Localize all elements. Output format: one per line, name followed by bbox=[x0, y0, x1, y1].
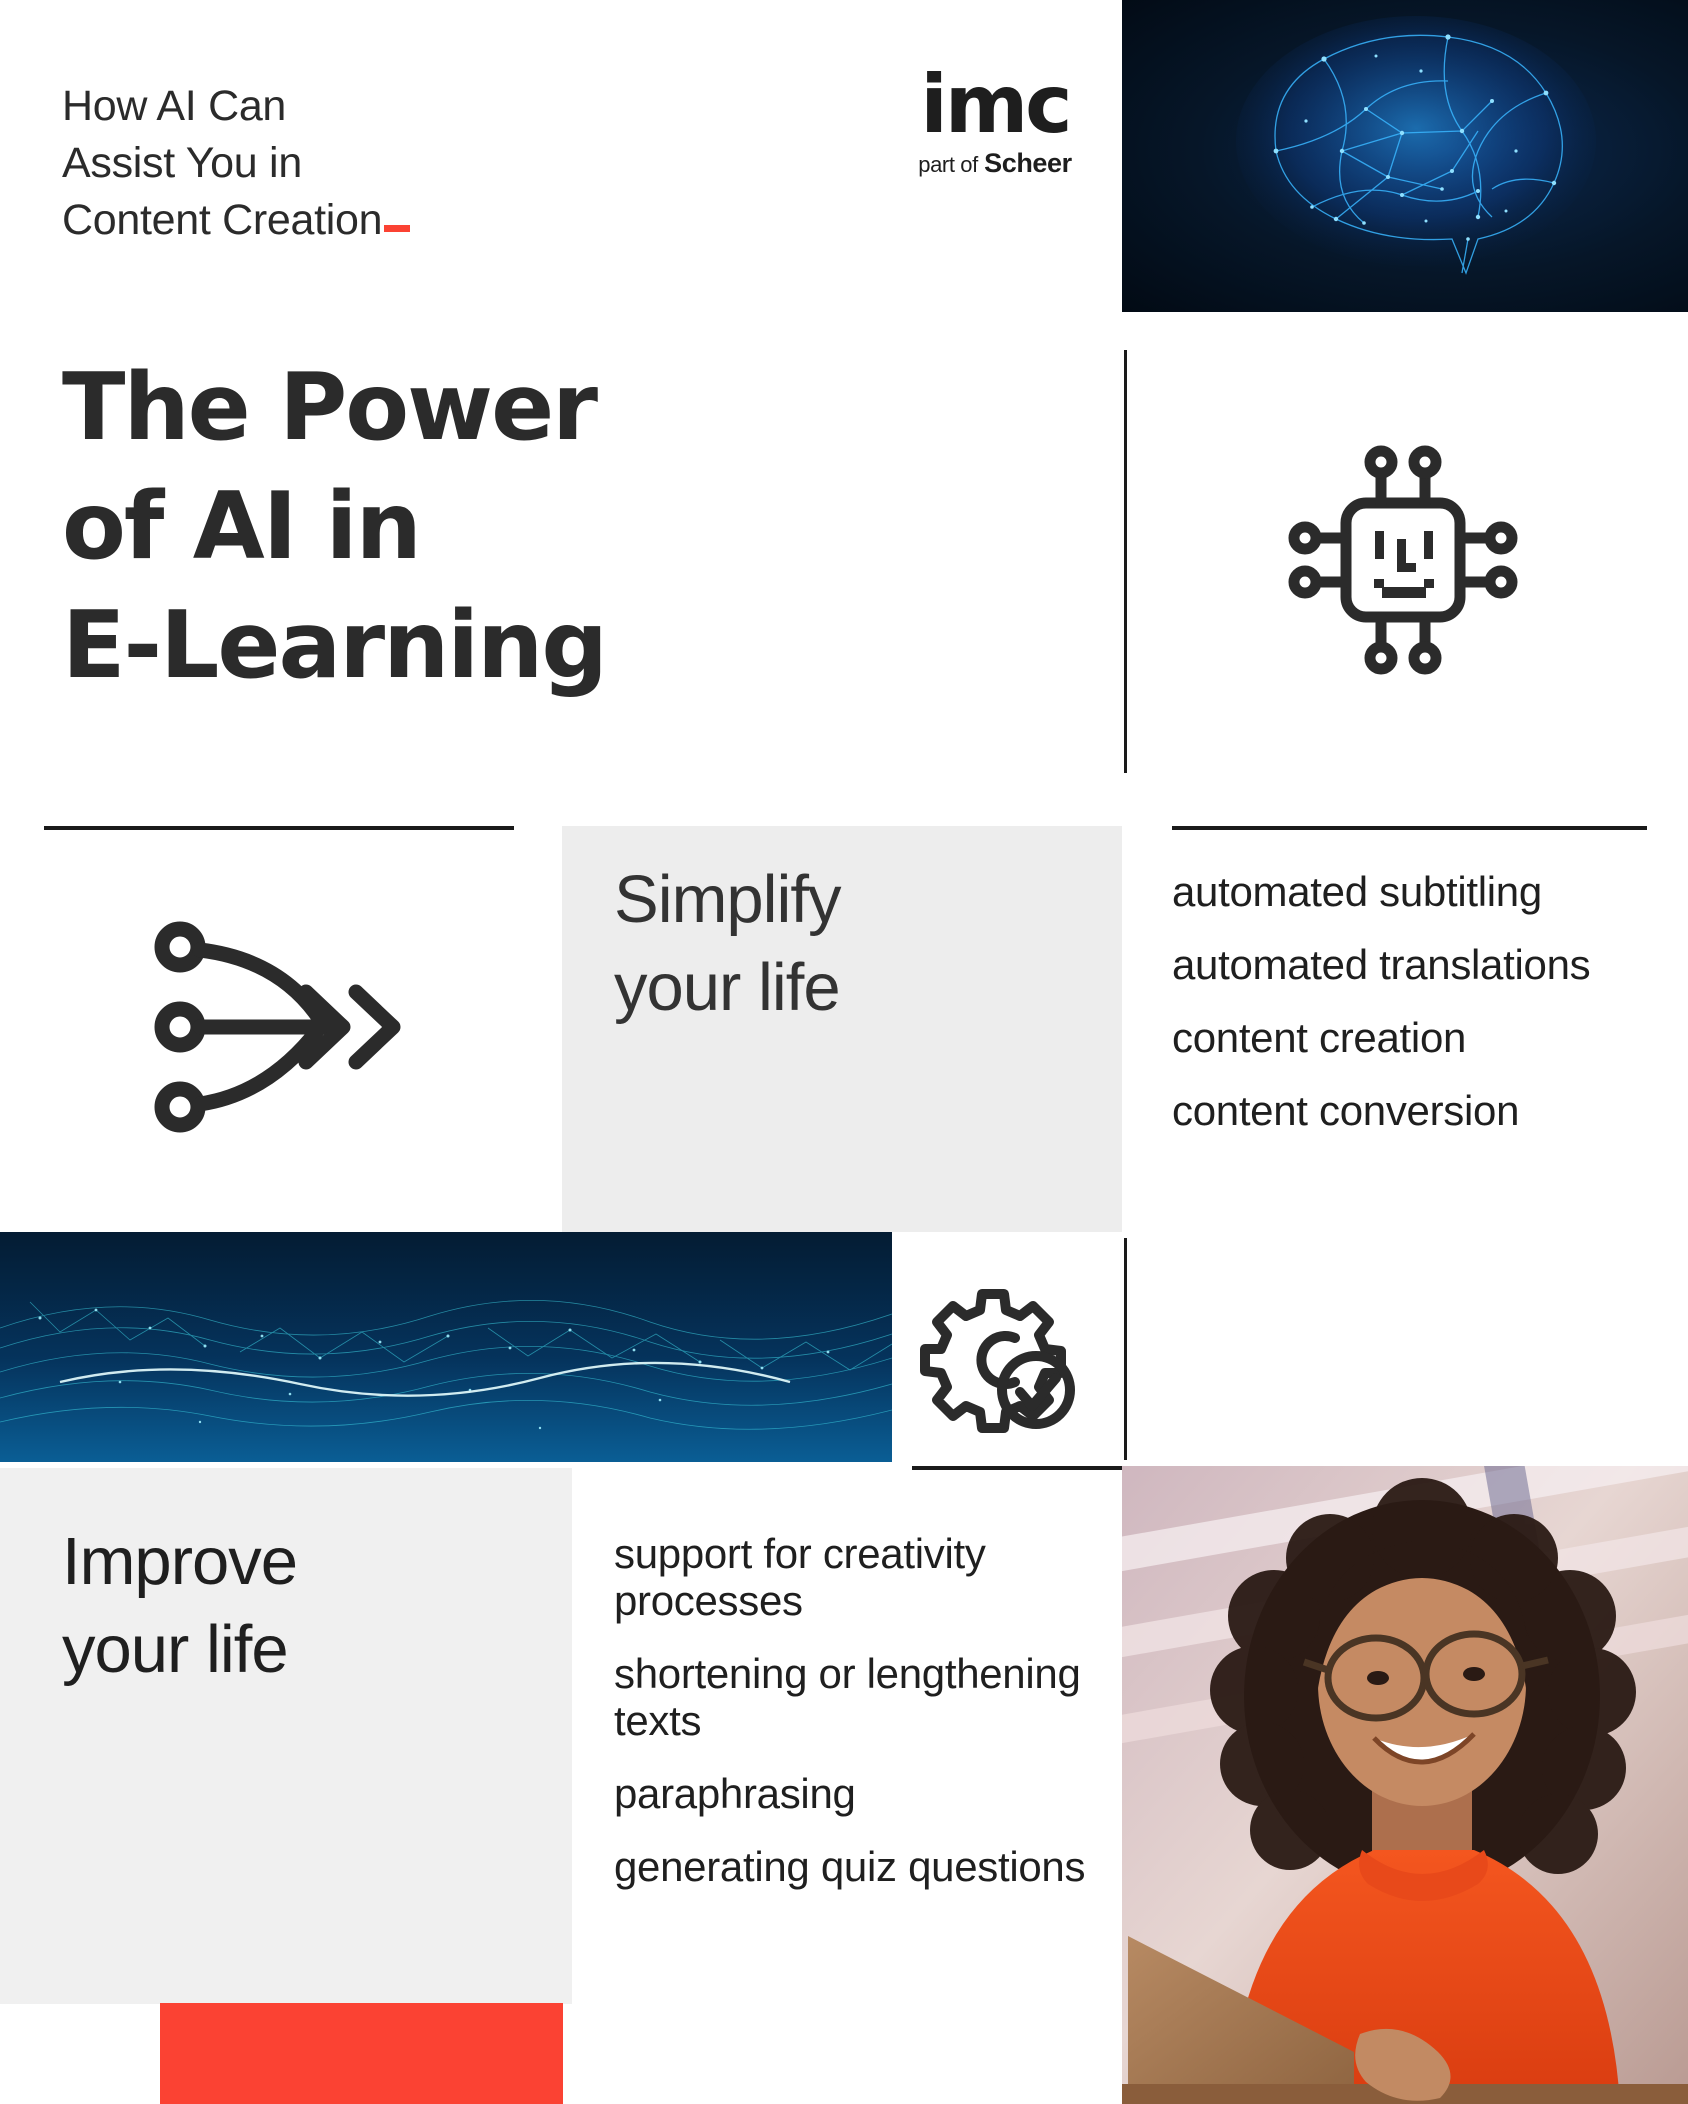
improve-heading-line-1: Improve bbox=[62, 1524, 297, 1599]
photo-illustration bbox=[1122, 1466, 1688, 2104]
simplify-heading-line-1: Simplify bbox=[614, 862, 841, 937]
gear-check-icon bbox=[918, 1282, 1098, 1442]
kicker-line-2: Assist You in bbox=[62, 139, 302, 187]
kicker-text: How AI Can Assist You in Content Creatio… bbox=[62, 78, 702, 250]
logo-tagline: part of Scheer bbox=[890, 148, 1100, 179]
wave-network-graphic bbox=[0, 1232, 892, 1462]
converge-arrow-graphic bbox=[148, 912, 428, 1142]
simplify-feature-list: automated subtitling automated translati… bbox=[1172, 868, 1672, 1160]
list-item: shortening or lengthening texts bbox=[614, 1650, 1114, 1744]
simplify-heading-line-2: your life bbox=[614, 950, 840, 1025]
list-item: automated subtitling bbox=[1172, 868, 1672, 915]
page-title: The Power of AI in E-Learning bbox=[62, 348, 752, 705]
title-line-1: The Power bbox=[62, 353, 596, 461]
brain-network-graphic bbox=[1216, 11, 1616, 301]
divider-rule-gear bbox=[912, 1466, 1124, 1470]
list-item: generating quiz questions bbox=[614, 1843, 1114, 1890]
divider-rule-left bbox=[44, 826, 514, 830]
list-item: support for creativity processes bbox=[614, 1530, 1114, 1624]
title-line-2: of AI in bbox=[62, 472, 420, 580]
ai-chip-icon bbox=[1278, 435, 1528, 685]
logo-tagline-prefix: part of bbox=[918, 152, 978, 177]
woman-with-laptop-photo bbox=[1122, 1466, 1688, 2104]
infographic-poster: How AI Can Assist You in Content Creatio… bbox=[0, 0, 1688, 2104]
improve-heading: Improve your life bbox=[62, 1518, 492, 1695]
logo-tagline-brand: Scheer bbox=[984, 148, 1072, 178]
list-item: automated translations bbox=[1172, 941, 1672, 988]
improve-heading-line-2: your life bbox=[62, 1612, 288, 1687]
merge-arrow-icon bbox=[148, 912, 428, 1142]
logo-wordmark: imc bbox=[890, 72, 1100, 138]
kicker-line-3: Content Creation bbox=[62, 196, 382, 244]
list-item: paraphrasing bbox=[614, 1770, 1114, 1817]
title-line-3: E-Learning bbox=[62, 591, 606, 699]
kicker-line-1: How AI Can bbox=[62, 82, 286, 130]
ai-brain-image bbox=[1122, 0, 1688, 312]
chip-face-icon bbox=[1278, 435, 1528, 685]
imc-logo: imc part of Scheer bbox=[890, 72, 1100, 179]
red-underscore-accent bbox=[384, 225, 410, 232]
red-accent-block bbox=[160, 2003, 563, 2104]
vertical-divider-title bbox=[1124, 350, 1127, 773]
improve-feature-list: support for creativity processes shorten… bbox=[614, 1530, 1114, 1916]
vertical-divider-middle bbox=[1124, 1238, 1127, 1460]
simplify-heading: Simplify your life bbox=[614, 856, 1084, 1033]
divider-rule-right bbox=[1172, 826, 1647, 830]
settings-verified-graphic bbox=[918, 1282, 1098, 1442]
list-item: content conversion bbox=[1172, 1087, 1672, 1134]
digital-wave-image bbox=[0, 1232, 892, 1462]
list-item: content creation bbox=[1172, 1014, 1672, 1061]
